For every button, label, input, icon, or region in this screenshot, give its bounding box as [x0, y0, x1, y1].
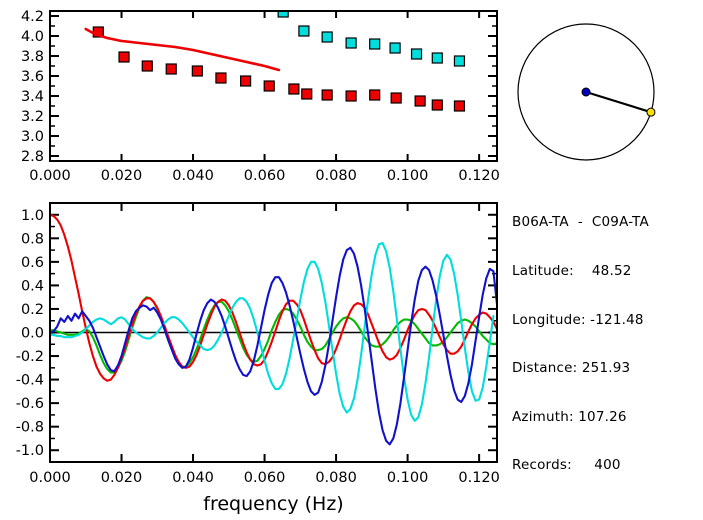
azimuth-ray — [586, 92, 651, 112]
series-marker-fundamental-mode-measured — [264, 81, 274, 91]
data-layer — [50, 215, 497, 445]
series-marker-higher-mode-measured — [432, 53, 442, 63]
info-row-azimuth: Azimuth: 107.26 — [512, 409, 702, 425]
y-tick-label: 0.8 — [21, 231, 44, 247]
series-marker-higher-mode-measured — [346, 38, 356, 48]
x-tick-label: 0.100 — [387, 168, 429, 184]
series-marker-fundamental-mode-measured — [370, 90, 380, 100]
dispersion-plot-group: 0.0000.0200.0400.0600.0800.1000.1202.83.… — [21, 7, 500, 184]
y-tick-label: -0.2 — [16, 349, 44, 365]
x-tick-label: 0.080 — [315, 470, 357, 486]
series-marker-higher-mode-measured — [322, 32, 332, 42]
y-tick-label: 3.4 — [21, 89, 44, 105]
y-tick-label: 4.0 — [21, 29, 44, 45]
spectra-plot-group: 0.0000.0200.0400.0600.0800.1000.120-1.0-… — [16, 203, 500, 515]
series-marker-fundamental-mode-measured — [216, 73, 226, 83]
x-tick-label: 0.060 — [244, 168, 286, 184]
x-tick-label: 0.080 — [315, 168, 357, 184]
x-tick-label: 0.000 — [29, 168, 71, 184]
azimuth-diagram-panel — [508, 6, 703, 178]
info-row-latitude: Latitude: 48.52 — [512, 263, 702, 279]
series-marker-fundamental-mode-measured — [391, 93, 401, 103]
y-tick-label: 0.2 — [21, 302, 44, 318]
target-station-marker — [647, 108, 655, 116]
y-tick-label: 3.2 — [21, 109, 44, 125]
info-row-records: Records: 400 — [512, 457, 702, 473]
series-marker-higher-mode-measured — [370, 39, 380, 49]
reference-station-marker — [582, 88, 590, 96]
series-marker-higher-mode-measured — [299, 26, 309, 36]
y-tick-label: 3.6 — [21, 69, 44, 85]
series-marker-fundamental-mode-measured — [119, 52, 129, 62]
series-marker-fundamental-mode-measured — [322, 90, 332, 100]
x-tick-label: 0.120 — [458, 168, 500, 184]
series-marker-higher-mode-measured — [454, 56, 464, 66]
x-tick-label: 0.040 — [172, 470, 214, 486]
station-pair-title: B06A-TA - C09A-TA — [512, 214, 702, 230]
series-marker-fundamental-mode-measured — [302, 89, 312, 99]
y-tick-label: 1.0 — [21, 208, 44, 224]
series-marker-fundamental-mode-measured — [241, 76, 251, 86]
y-tick-label: 3.0 — [21, 129, 44, 145]
series-marker-fundamental-mode-measured — [454, 101, 464, 111]
dispersion-plot-panel: 0.0000.0200.0400.0600.0800.1000.1202.83.… — [0, 0, 512, 196]
y-tick-label: -0.4 — [16, 373, 44, 389]
data-layer — [86, 7, 465, 111]
y-tick-label: 0.6 — [21, 255, 44, 271]
x-tick-label: 0.020 — [101, 168, 143, 184]
info-row-distance: Distance: 251.93 — [512, 360, 702, 376]
spectra-plot-svg[interactable]: 0.0000.0200.0400.0600.0800.1000.120-1.0-… — [0, 196, 512, 520]
y-tick-label: 3.8 — [21, 49, 44, 65]
y-tick-label: 0.4 — [21, 278, 44, 294]
series-line-fundamental-mode-reference — [86, 29, 279, 70]
x-tick-label: 0.120 — [458, 470, 500, 486]
x-tick-label: 0.020 — [101, 470, 143, 486]
x-tick-label: 0.040 — [172, 168, 214, 184]
series-marker-fundamental-mode-measured — [192, 66, 202, 76]
series-marker-fundamental-mode-measured — [142, 61, 152, 71]
series-marker-fundamental-mode-measured — [415, 96, 425, 106]
station-pair-info: B06A-TA - C09A-TA Latitude: 48.52 Longit… — [512, 182, 702, 490]
dispersion-plot-svg[interactable]: 0.0000.0200.0400.0600.0800.1000.1202.83.… — [0, 0, 512, 196]
azimuth-diagram-svg — [508, 6, 703, 178]
x-tick-label: 0.100 — [387, 470, 429, 486]
x-tick-label: 0.000 — [29, 470, 71, 486]
series-marker-fundamental-mode-measured — [432, 100, 442, 110]
y-tick-label: -1.0 — [16, 443, 44, 459]
series-marker-higher-mode-measured — [412, 49, 422, 59]
azimuth-group — [518, 24, 655, 160]
y-tick-label: 2.8 — [21, 149, 44, 165]
spectra-plot-panel: 0.0000.0200.0400.0600.0800.1000.120-1.0-… — [0, 196, 512, 520]
series-marker-fundamental-mode-measured — [346, 91, 356, 101]
y-tick-label: 4.2 — [21, 9, 44, 25]
series-marker-fundamental-mode-measured — [166, 64, 176, 74]
series-marker-higher-mode-measured — [278, 7, 288, 17]
series-marker-higher-mode-measured — [390, 43, 400, 53]
y-tick-label: -0.8 — [16, 420, 44, 436]
x-axis-label: frequency (Hz) — [203, 493, 343, 515]
y-tick-label: 0.0 — [21, 326, 44, 342]
x-tick-label: 0.060 — [244, 470, 286, 486]
y-tick-label: -0.6 — [16, 396, 44, 412]
series-marker-fundamental-mode-measured — [289, 84, 299, 94]
info-row-longitude: Longitude: -121.48 — [512, 312, 702, 328]
